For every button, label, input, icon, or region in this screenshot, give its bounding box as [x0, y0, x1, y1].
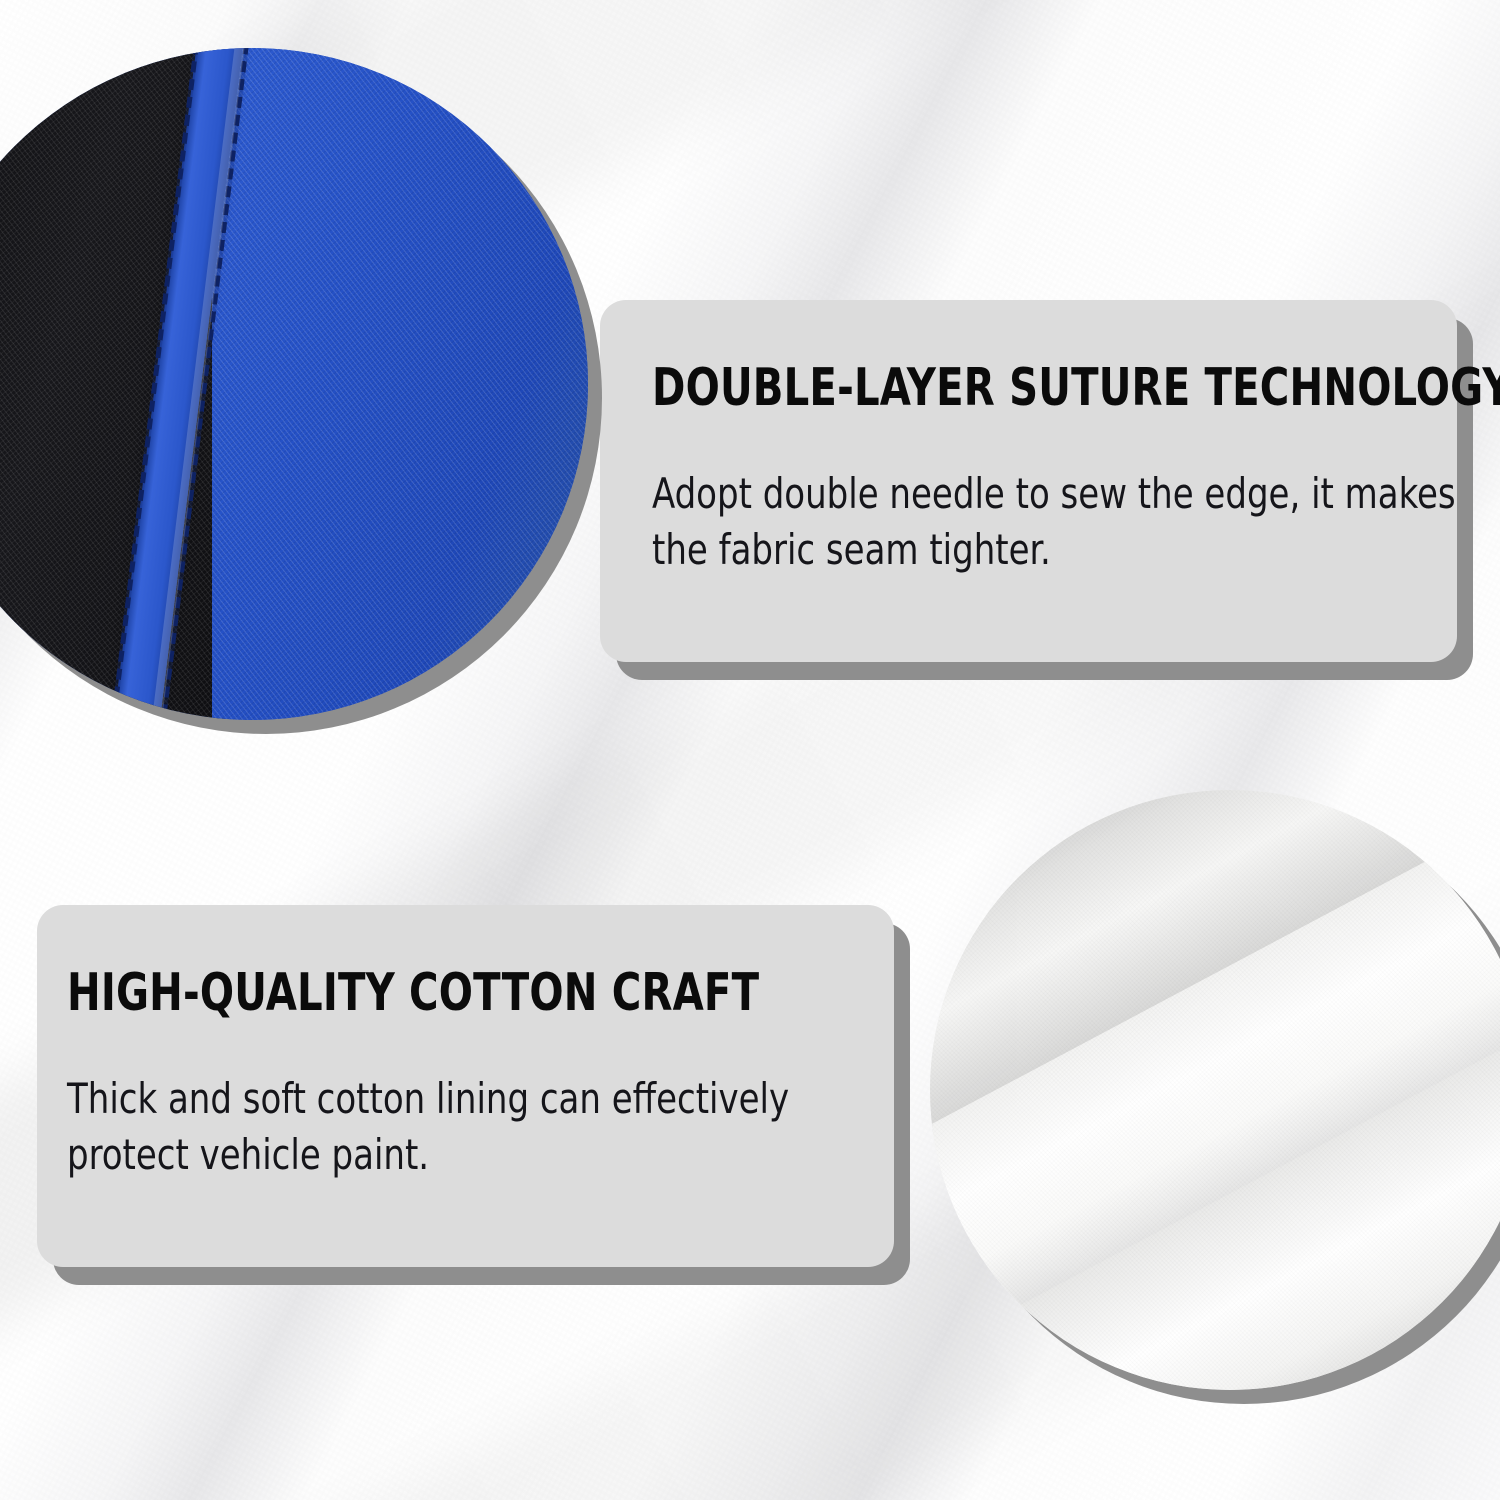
cotton-fuzz-texture: [930, 790, 1500, 1390]
feature-description-high-quality-cotton-craft: Thick and soft cotton lining can effecti…: [67, 1071, 904, 1184]
blue-fabric-weave-texture: [212, 48, 588, 720]
infographic-canvas: DOUBLE-LAYER SUTURE TECHNOLOGY Adopt dou…: [0, 0, 1500, 1500]
feature-card-two-content: HIGH-QUALITY COTTON CRAFT Thick and soft…: [67, 967, 897, 1184]
cotton-lining-photo: [930, 790, 1500, 1390]
feature-card-high-quality-cotton-craft: HIGH-QUALITY COTTON CRAFT Thick and soft…: [37, 905, 894, 1267]
blue-fabric-region: [212, 48, 588, 720]
fabric-seam-photo: [0, 48, 588, 720]
feature-card-one-content: DOUBLE-LAYER SUTURE TECHNOLOGY Adopt dou…: [652, 362, 1442, 579]
feature-title-double-layer-suture-technology: DOUBLE-LAYER SUTURE TECHNOLOGY: [652, 362, 1331, 414]
feature-card-double-layer-suture-technology: DOUBLE-LAYER SUTURE TECHNOLOGY Adopt dou…: [600, 300, 1457, 662]
feature-title-high-quality-cotton-craft: HIGH-QUALITY COTTON CRAFT: [67, 967, 781, 1019]
feature-description-double-layer-suture-technology: Adopt double needle to sew the edge, it …: [652, 466, 1462, 579]
